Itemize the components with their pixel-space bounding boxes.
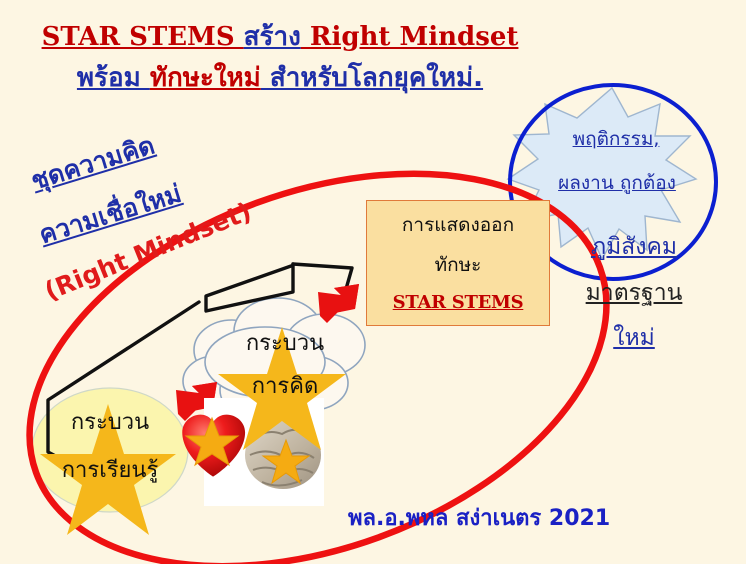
title-thai-prom: พร้อม bbox=[77, 63, 150, 93]
slide-canvas: STAR STEMS สร้าง Right Mindset พร้อม ทัก… bbox=[0, 0, 746, 564]
skill-box-line3: STAR STEMS bbox=[367, 292, 549, 313]
cloud-label-line1: กระบวน bbox=[215, 325, 355, 360]
right-label-line5: ใหม่ bbox=[545, 320, 723, 356]
learning-label-line1: กระบวน bbox=[40, 404, 180, 439]
title-star-stems: STAR STEMS bbox=[42, 22, 244, 52]
right-label-line3: ภูมิสังคม bbox=[545, 229, 723, 265]
skill-box-line2: ทักษะ bbox=[367, 250, 549, 280]
burst-label-line2: ผลงาน ถูกต้อง bbox=[519, 168, 715, 198]
title-line-1: STAR STEMS สร้าง Right Mindset bbox=[0, 16, 560, 57]
author-signature: พล.อ.พหล สง่าเนตร 2021 bbox=[348, 500, 610, 535]
title-line-2: พร้อม ทักษะใหม่ สำหรับโลกยุคใหม่. bbox=[0, 57, 560, 98]
title-thai-new-skill: ทักษะใหม่ bbox=[150, 63, 261, 93]
burst-label-line1: พฤติกรรม, bbox=[530, 124, 702, 154]
title-right-mindset: Right Mindset bbox=[301, 22, 519, 52]
cloud-label-line2: การคิด bbox=[215, 368, 355, 403]
title-thai-sang: สร้าง bbox=[244, 22, 301, 52]
title-thai-for-new-world: สำหรับโลกยุคใหม่. bbox=[261, 63, 483, 93]
skill-box-line1: การแสดงออก bbox=[367, 210, 549, 240]
right-label-line4: มาตรฐาน bbox=[545, 275, 723, 311]
learning-label-line2: การเรียนรู้ bbox=[40, 452, 180, 487]
mindset-label-group: ชุดความคิด ความเชื่อใหม่ (Right Mindset) bbox=[26, 128, 326, 308]
skill-expression-box: การแสดงออก ทักษะ STAR STEMS bbox=[366, 200, 550, 326]
